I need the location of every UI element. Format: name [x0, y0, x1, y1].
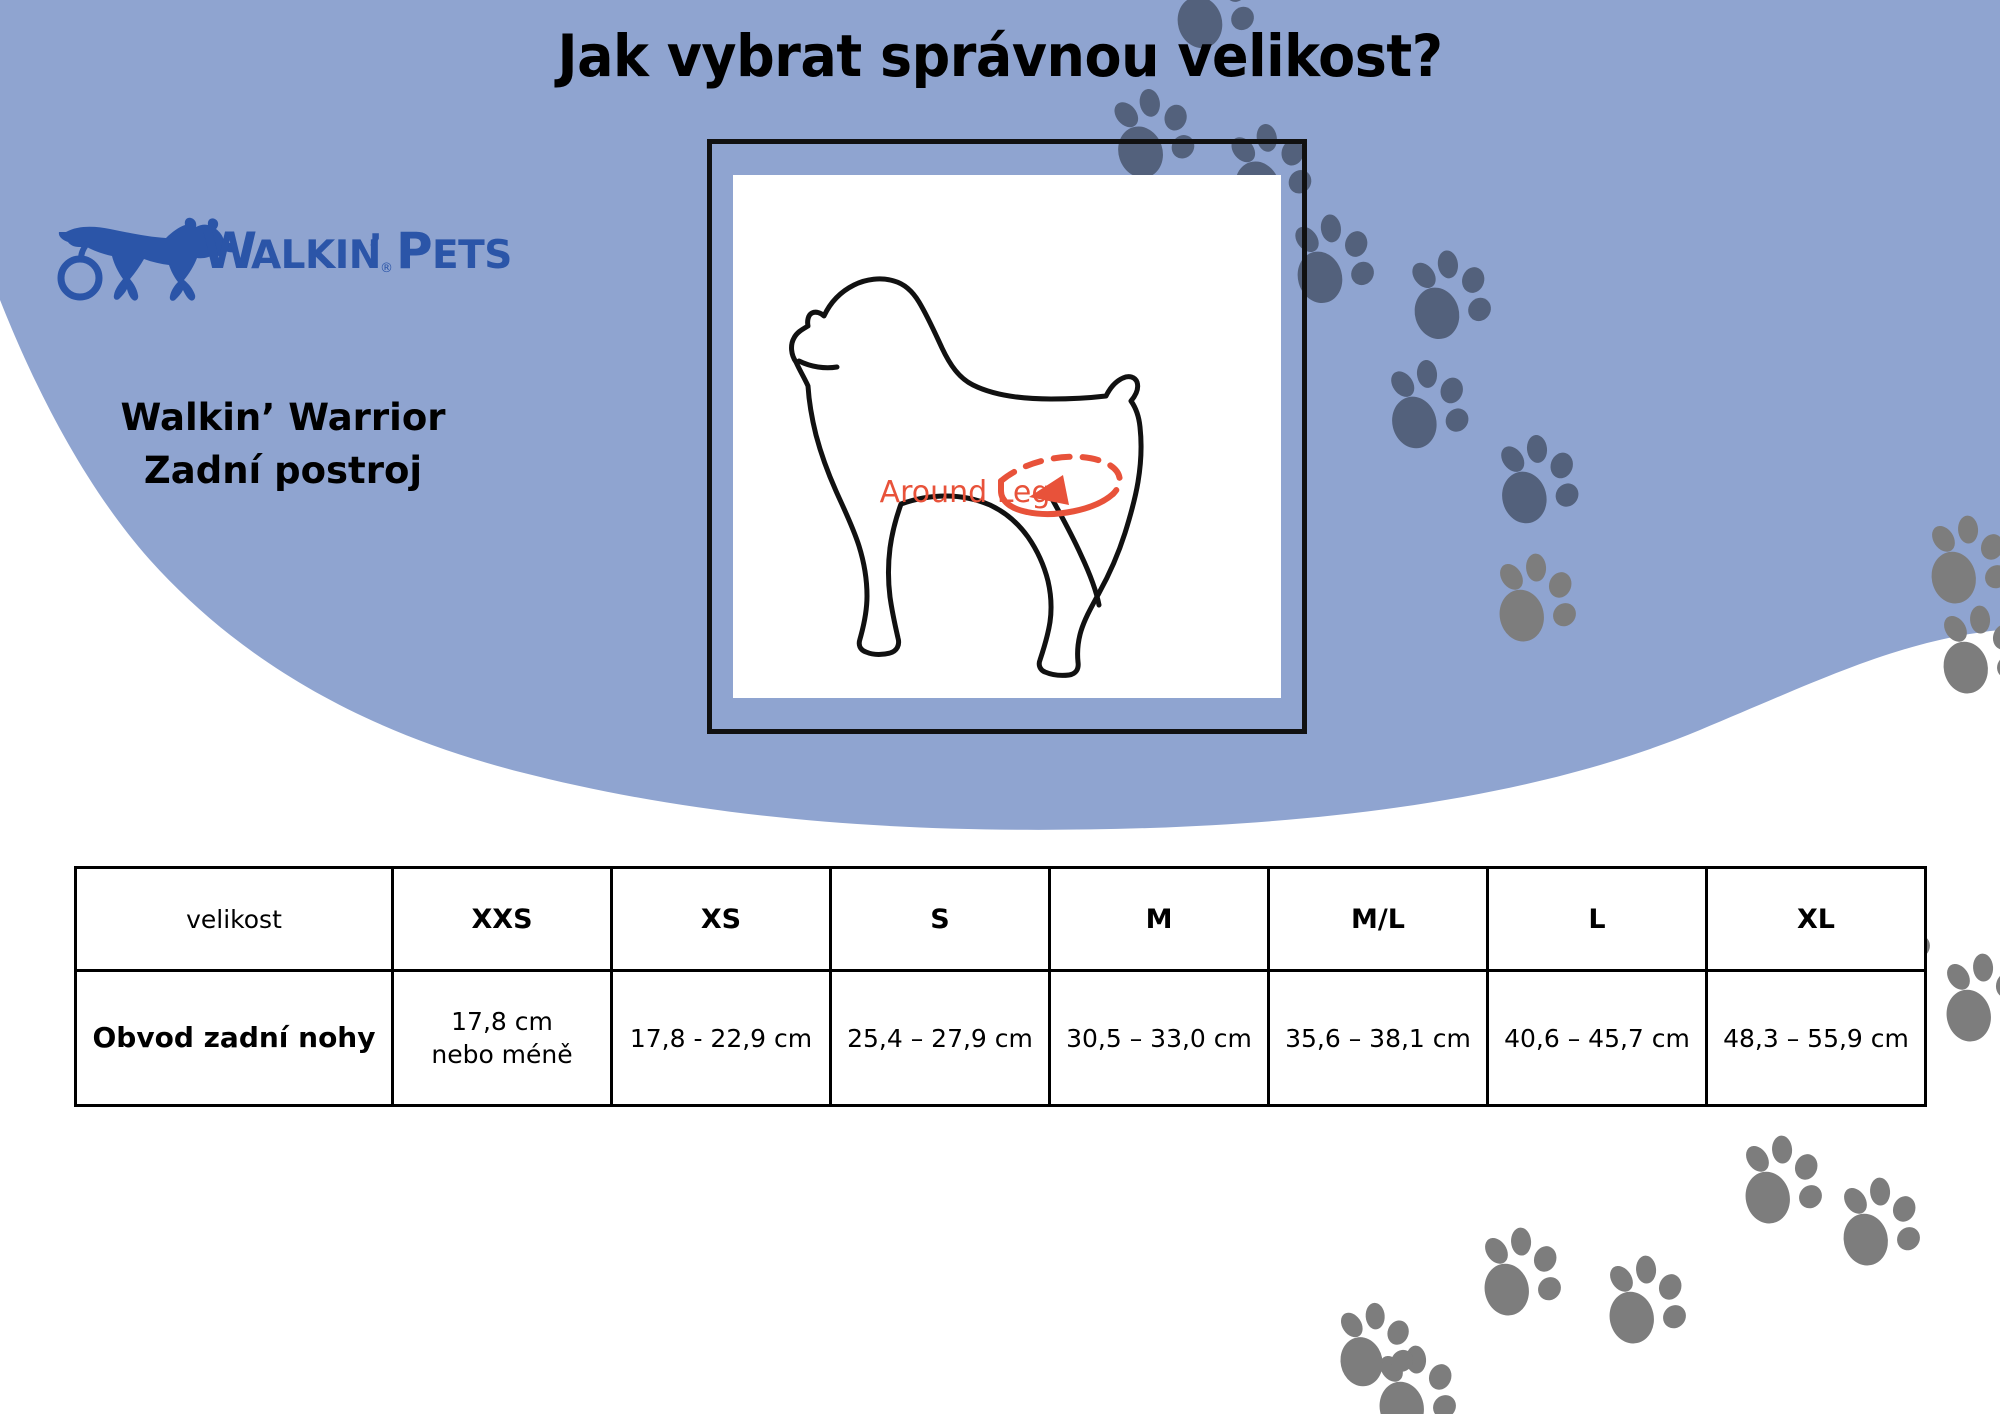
svg-text:P: P [396, 222, 432, 280]
table-measure-xxs: 17,8 cmnebo méně [393, 971, 612, 1106]
product-name: Walkin’ Warrior Zadní postroj [48, 392, 518, 497]
svg-text:ALKIN: ALKIN [251, 233, 381, 278]
table-header-label: velikost [76, 868, 393, 971]
table-measure-xs: 17,8 - 22,9 cm [612, 971, 831, 1106]
brand-logo: W ALKIN ’ ® P ETS [48, 196, 518, 306]
svg-text:®: ® [380, 261, 393, 276]
size-chart-table: velikost XXS XS S M M/L L XL Obvod zadní… [74, 866, 1927, 1107]
table-size-xl: XL [1707, 868, 1926, 971]
table-size-ml: M/L [1269, 868, 1488, 971]
walkin-pets-logo-icon: W ALKIN ’ ® P ETS [48, 196, 518, 306]
walkin-pets-wordmark: W ALKIN ’ ® P ETS [202, 222, 512, 280]
table-measure-ml: 35,6 – 38,1 cm [1269, 971, 1488, 1106]
table-measure-xl: 48,3 – 55,9 cm [1707, 971, 1926, 1106]
svg-text:ETS: ETS [432, 233, 512, 278]
table-measure-m: 30,5 – 33,0 cm [1050, 971, 1269, 1106]
table-measure-l: 40,6 – 45,7 cm [1488, 971, 1707, 1106]
table-row-label: Obvod zadní nohy [76, 971, 393, 1106]
table-size-l: L [1488, 868, 1707, 971]
page-title: Jak vybrat správnou velikost? [70, 22, 1930, 90]
table-size-xxs: XXS [393, 868, 612, 971]
table-size-xs: XS [612, 868, 831, 971]
table-measure-s: 25,4 – 27,9 cm [831, 971, 1050, 1106]
table-size-m: M [1050, 868, 1269, 971]
table-row-sizes: velikost XXS XS S M M/L L XL [76, 868, 1926, 971]
svg-text:W: W [202, 222, 256, 280]
table-row-measurements: Obvod zadní nohy 17,8 cmnebo méně 17,8 -… [76, 971, 1926, 1106]
poster-canvas: Jak vybrat správnou velikost? W ALKIN ’ … [0, 0, 2000, 1414]
product-name-line-1: Walkin’ Warrior [48, 392, 518, 445]
table-size-s: S [831, 868, 1050, 971]
dog-side-profile-outline-icon [733, 175, 1281, 698]
product-name-line-2: Zadní postroj [48, 445, 518, 498]
